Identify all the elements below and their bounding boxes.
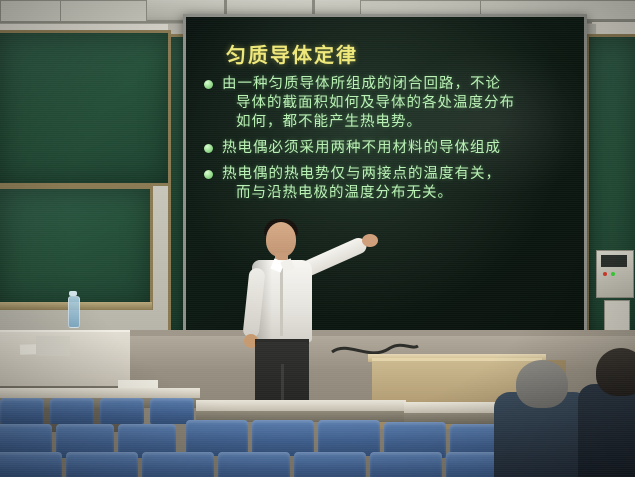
desk-row-back [0,388,200,398]
bullet-3-line-1: 热电偶的热电势仅与两接点的温度有关， [222,166,501,182]
audience-member-2-body [578,384,635,477]
chair [0,398,44,424]
presenter [228,222,378,412]
slide-title: 匀质导体定律 [226,39,556,68]
bottle-cap [69,291,77,296]
slide-bullet-2: 热电偶必须采用两种不用材料的导体组成 [200,139,580,158]
bullet-1-line-1: 由一种匀质导体所组成的闭合回路，不论 [222,76,501,92]
wall-control-box [604,300,630,332]
slide-bullets: 由一种匀质导体所组成的闭合回路，不论 导体的截面积如何及导体的各处温度分布 如何… [200,75,580,210]
chair [318,420,380,456]
bullet-1-line-2: 导体的截面积如何及导体的各处温度分布 [222,94,580,113]
monitor-on-desk [36,336,70,356]
chair [252,420,314,456]
presenter-shirt-placket [280,264,283,336]
audience-member-2-head [596,348,635,396]
bullet-dot-icon [204,144,213,153]
bullet-3-line-2: 而与沿热电极的温度分布无关。 [222,184,580,203]
desk-row-mid [196,400,406,411]
chair [0,452,62,477]
chair [66,452,138,477]
chair [50,398,94,424]
slide-bullet-1: 由一种匀质导体所组成的闭合回路，不论 导体的截面积如何及导体的各处温度分布 如何… [200,75,580,132]
chair [100,398,144,424]
rack-led-icon [611,272,615,276]
classroom-photo: 匀质导体定律 由一种匀质导体所组成的闭合回路，不论 导体的截面积如何及导体的各处… [0,0,635,477]
ceiling-panel [60,0,147,22]
bullet-dot-icon [204,80,213,89]
chair [142,452,214,477]
bullet-1-line-3: 如何，都不能产生热电势。 [222,113,580,132]
slide-bullet-3: 热电偶的热电势仅与两接点的温度有关， 而与沿热电极的温度分布无关。 [200,165,580,203]
presenter-pointing-hand [362,234,378,247]
chair [186,420,248,456]
bullet-2-line-1: 热电偶必须采用两种不用材料的导体组成 [222,140,501,156]
presenter-head [266,222,296,257]
bullet-dot-icon [204,170,213,179]
rack-display [601,255,627,267]
chair [218,452,290,477]
water-bottle [68,296,80,328]
chair [370,452,442,477]
ceiling-panel [0,0,62,22]
chalkboard-upper-left [0,30,171,186]
rack-led-icon [603,272,607,276]
audience-member-1-head [516,360,568,408]
chair [294,452,366,477]
